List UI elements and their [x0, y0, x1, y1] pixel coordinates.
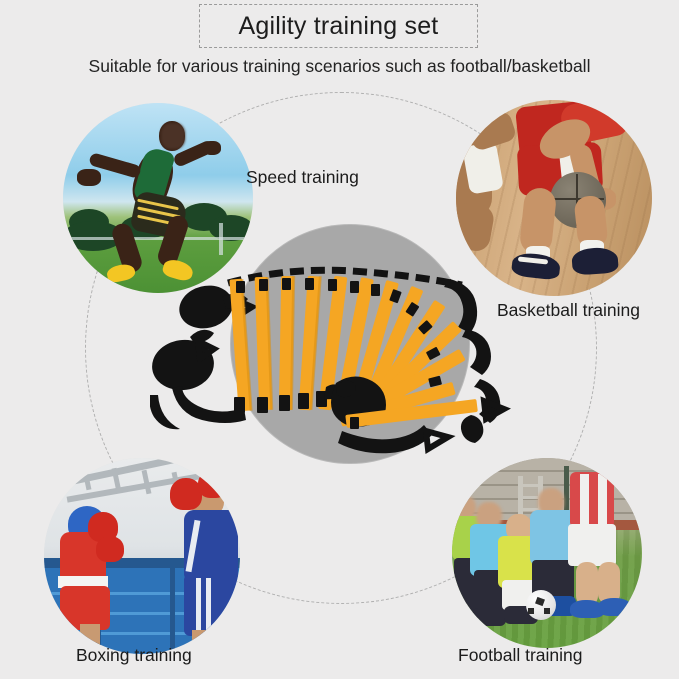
page-title: Agility training set — [239, 12, 439, 41]
photo-circle-football-training — [452, 458, 642, 648]
title-box: Agility training set — [199, 4, 478, 48]
label-football-training: Football training — [458, 645, 583, 666]
photo-circle-boxing-training — [44, 458, 240, 654]
photo-circle-basketball-training — [456, 100, 652, 296]
product-infographic: Agility training set Suitable for variou… — [0, 0, 679, 679]
label-boxing-training: Boxing training — [76, 645, 192, 666]
label-basketball-training: Basketball training — [497, 300, 640, 321]
label-speed-training: Speed training — [246, 167, 359, 188]
subtitle: Suitable for various training scenarios … — [0, 56, 679, 77]
photo-circle-speed-training — [63, 103, 253, 293]
